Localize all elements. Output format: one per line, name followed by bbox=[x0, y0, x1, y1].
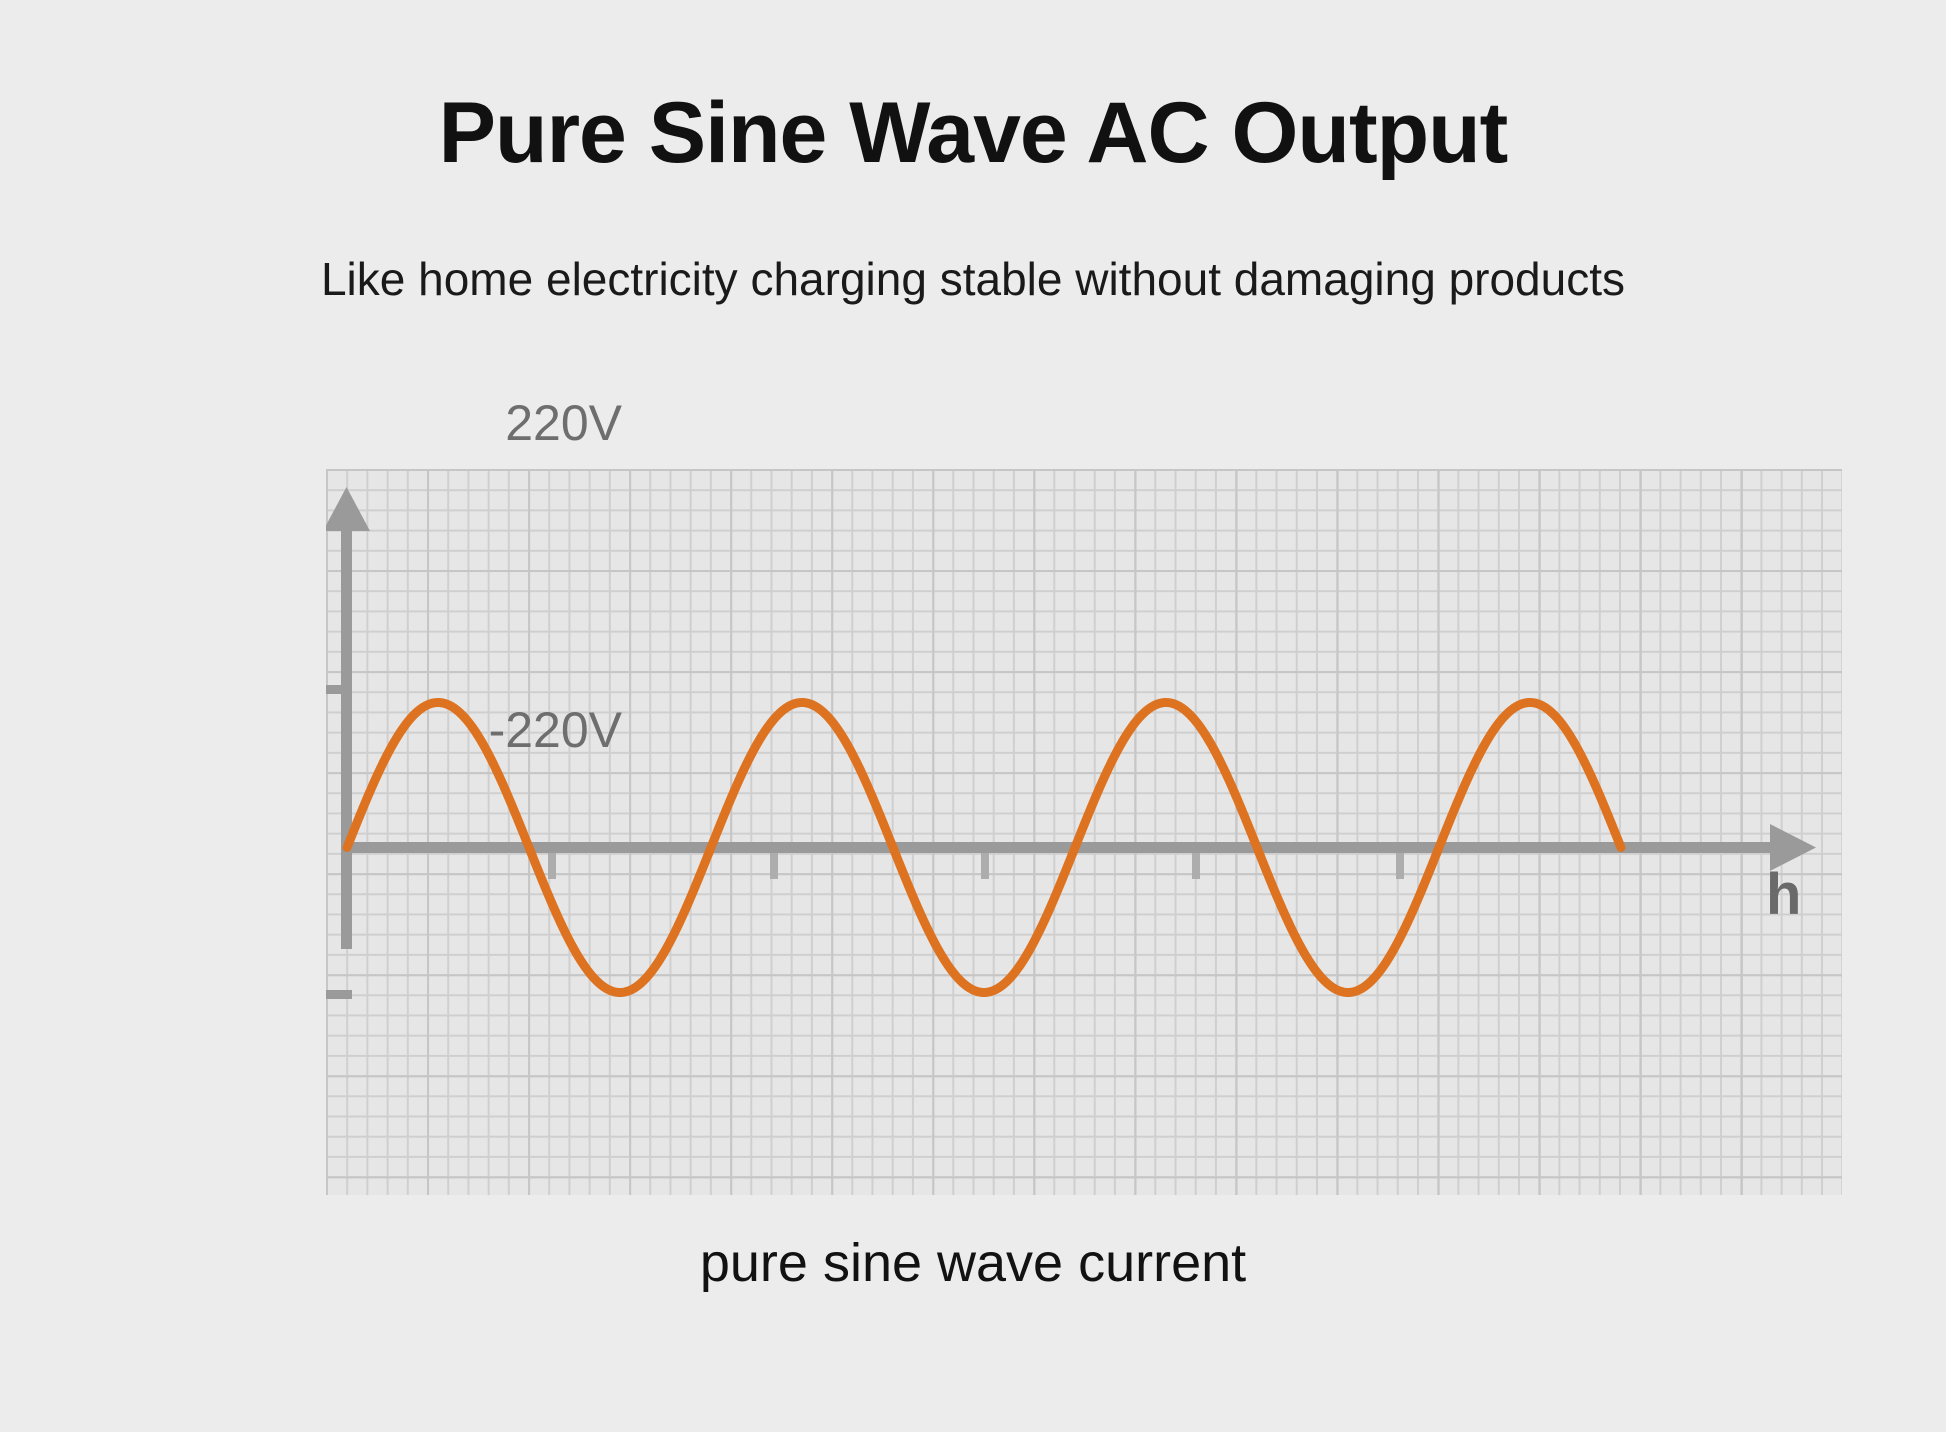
chart-caption: pure sine wave current bbox=[0, 1232, 1946, 1294]
y-axis-label-positive: 220V bbox=[362, 394, 622, 452]
page-title: Pure Sine Wave AC Output bbox=[0, 88, 1946, 178]
y-axis-label-negative: -220V bbox=[326, 701, 622, 759]
waveform-curve bbox=[326, 469, 1842, 1195]
sine-wave-chart: 220V -220V h bbox=[326, 469, 1842, 1195]
page-subtitle: Like home electricity charging stable wi… bbox=[0, 252, 1946, 306]
x-axis-label-hours: h bbox=[1766, 861, 1801, 928]
